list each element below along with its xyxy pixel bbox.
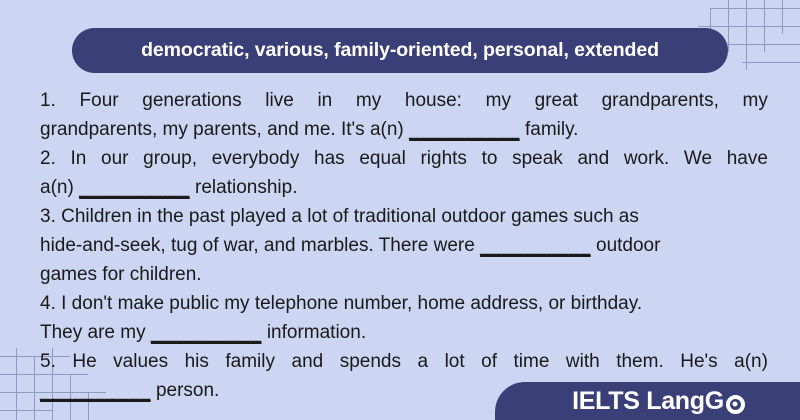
worksheet-page: democratic, various, family-oriented, pe… [0, 0, 800, 420]
answer-blank[interactable]: __________ [79, 177, 190, 198]
exercise-item: 1. Four generations live in my house: my… [40, 86, 768, 144]
line-word: family [225, 347, 275, 376]
line-word: them. [616, 347, 664, 376]
target-circle-icon [726, 395, 745, 414]
line-word: We [684, 144, 712, 173]
line-word: great [535, 86, 578, 115]
exercise-line: 3. Children in the past played a lot of … [40, 202, 768, 231]
exercise-item: 2. In our group, everybody has equal rig… [40, 144, 768, 202]
exercise-line: games for children. [40, 260, 768, 289]
exercise-line: They are my __________ information. [40, 318, 768, 347]
exercise-line: hide-and-seek, tug of war, and marbles. … [40, 231, 768, 260]
line-word: in [317, 86, 332, 115]
line-word: rights [420, 144, 466, 173]
line-word: time [514, 347, 550, 376]
line-word: values [113, 347, 168, 376]
line-word: has [314, 144, 345, 173]
exercise-line: 5. He values his family and spends a lot… [40, 347, 768, 376]
word-bank-banner: democratic, various, family-oriented, pe… [72, 28, 728, 73]
line-word: everybody [212, 144, 300, 173]
line-word: Four [80, 86, 119, 115]
brand-logo: IELTS LangG [572, 387, 745, 416]
line-word: spends [340, 347, 401, 376]
line-word: my [486, 86, 511, 115]
answer-blank[interactable]: __________ [480, 235, 591, 256]
line-word: his [185, 347, 209, 376]
line-word: In [71, 144, 87, 173]
line-word: 2. [40, 144, 56, 173]
line-word: with [566, 347, 600, 376]
line-word: lot [445, 347, 465, 376]
line-word: my [356, 86, 381, 115]
line-word: have [727, 144, 768, 173]
line-text: 4. I don't make public my telephone numb… [40, 293, 642, 314]
line-word: house: [405, 86, 462, 115]
line-text: outdoor [591, 235, 661, 256]
line-text: person. [151, 380, 220, 401]
line-word: speak [512, 144, 563, 173]
exercise-line: 1. Four generations live in my house: my… [40, 86, 768, 115]
line-word: and [292, 347, 324, 376]
exercise-item: 3. Children in the past played a lot of … [40, 202, 768, 289]
exercise-item: 4. I don't make public my telephone numb… [40, 289, 768, 347]
line-text: hide-and-seek, tug of war, and marbles. … [40, 235, 480, 256]
line-text: 3. Children in the past played a lot of … [40, 206, 639, 227]
line-word: generations [142, 86, 241, 115]
word-bank-text: democratic, various, family-oriented, pe… [141, 39, 659, 62]
line-word: live [265, 86, 294, 115]
line-text: games for children. [40, 264, 202, 285]
answer-blank[interactable]: __________ [151, 322, 262, 343]
brand-logo-text: IELTS LangG [572, 387, 724, 416]
brand-badge: IELTS LangG [495, 382, 800, 420]
line-word: my [743, 86, 768, 115]
line-word: equal [359, 144, 406, 173]
line-word: He's [680, 347, 717, 376]
answer-blank[interactable]: __________ [409, 119, 520, 140]
exercise-line: grandparents, my parents, and me. It's a… [40, 115, 768, 144]
line-word: our [101, 144, 128, 173]
line-word: and [577, 144, 609, 173]
exercise-line: 4. I don't make public my telephone numb… [40, 289, 768, 318]
exercise-body: 1. Four generations live in my house: my… [40, 86, 768, 405]
line-word: He [72, 347, 96, 376]
line-word: group, [143, 144, 197, 173]
answer-blank[interactable]: __________ [40, 380, 151, 401]
line-word: grandparents, [602, 86, 719, 115]
exercise-line: a(n) __________ relationship. [40, 173, 768, 202]
line-text: family. [520, 119, 579, 140]
line-word: 1. [40, 86, 56, 115]
line-word: of [481, 347, 497, 376]
line-text: a(n) [40, 177, 79, 198]
exercise-line: 2. In our group, everybody has equal rig… [40, 144, 768, 173]
line-word: a(n) [734, 347, 768, 376]
line-text: information. [262, 322, 367, 343]
line-text: relationship. [190, 177, 298, 198]
line-word: to [482, 144, 498, 173]
line-word: a [417, 347, 428, 376]
line-text: They are my [40, 322, 151, 343]
line-word: work. [624, 144, 669, 173]
line-word: 5. [40, 347, 56, 376]
line-text: grandparents, my parents, and me. It's a… [40, 119, 409, 140]
